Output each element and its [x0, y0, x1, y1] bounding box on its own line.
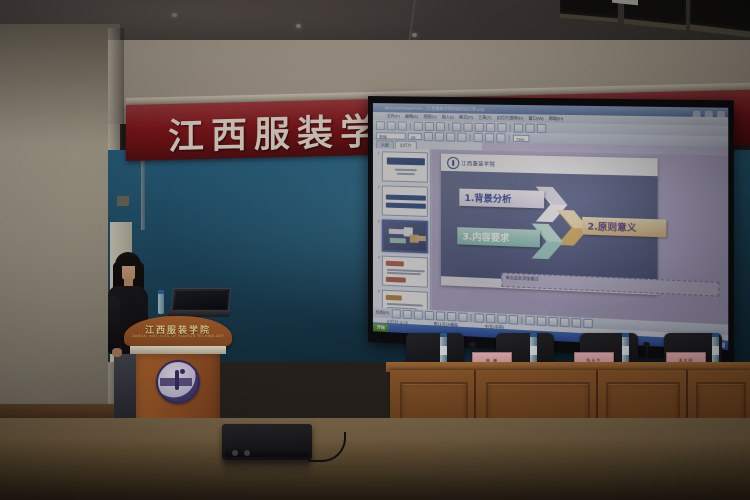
toolbar-separator — [448, 123, 449, 130]
oval-icon[interactable] — [447, 311, 456, 321]
draw-menu-label[interactable]: 绘图(R) — [376, 309, 389, 316]
slide-editing-area[interactable]: 江西服装学院 1.背景分析 — [432, 149, 728, 324]
zoom-select[interactable]: 73% — [513, 134, 530, 142]
thumb-line — [387, 272, 421, 275]
ceiling-downlight — [296, 24, 301, 28]
laptop-lid — [171, 288, 232, 312]
arrow-icon[interactable] — [424, 310, 433, 320]
slide-thumbnail-4[interactable] — [382, 256, 428, 288]
toolbar-separator — [521, 316, 522, 323]
thumb-heading — [386, 295, 402, 301]
menu-item-edit[interactable]: 编辑(E) — [405, 114, 418, 120]
align-center-icon[interactable] — [485, 133, 494, 142]
thumb-heading — [386, 261, 404, 267]
podium-water-bottle — [158, 293, 164, 314]
print-icon[interactable] — [414, 121, 423, 130]
menu-item-help[interactable]: 帮助(H) — [549, 116, 563, 122]
line-icon[interactable] — [413, 310, 422, 320]
conference-hall-photo: 江西服装学 Microsoft PowerPoint - [江西服装学院内部培训… — [0, 0, 750, 500]
rectangle-icon[interactable] — [436, 311, 445, 321]
slide-thumbnail-3[interactable] — [381, 219, 427, 253]
slide-thumbnail-panel[interactable]: 1 2 3 — [373, 148, 431, 310]
thumb-title-bar — [387, 157, 425, 165]
select-arrow-icon[interactable] — [391, 309, 400, 318]
thumb-line — [397, 173, 415, 175]
amplifier-knob — [244, 450, 250, 456]
underline-icon[interactable] — [446, 132, 455, 141]
thumb-line — [387, 303, 423, 306]
font-name-select[interactable]: 宋体 — [376, 132, 406, 140]
podium-top: 江西服装学院 JIANGXI INSTITUTE OF FASHION TECH… — [124, 316, 232, 346]
slide-thumbnail-1[interactable] — [382, 151, 428, 182]
table-microphone — [469, 342, 476, 347]
autoshapes-icon[interactable] — [402, 309, 411, 319]
new-icon[interactable] — [376, 121, 385, 130]
align-right-icon[interactable] — [496, 133, 505, 142]
left-wall-shading — [0, 24, 120, 424]
menu-item-format[interactable]: 格式(O) — [459, 114, 473, 120]
thumbnail-row[interactable]: 3 — [375, 219, 428, 253]
chevron-label-3: 3.内容要求 — [457, 227, 540, 247]
bottle-cap — [622, 333, 629, 337]
thumbnail-row[interactable]: 4 — [375, 255, 428, 287]
bold-icon[interactable] — [424, 132, 433, 141]
podium-trim-band — [130, 346, 226, 354]
amplifier-reflection — [224, 459, 310, 477]
clipart-icon[interactable] — [497, 314, 506, 324]
bottle-cap — [530, 333, 537, 337]
thumb-chevron — [416, 236, 427, 241]
thumbnail-number: 3 — [375, 219, 380, 224]
slide-logo: 江西服装学院 — [447, 157, 495, 170]
fill-color-icon[interactable] — [525, 315, 534, 325]
amplifier-knob — [232, 450, 238, 456]
preview-icon[interactable] — [425, 121, 434, 130]
crest-figure — [175, 370, 179, 390]
insert-chart-icon[interactable] — [525, 123, 534, 132]
menu-item-window[interactable]: 窗口(W) — [528, 115, 543, 121]
ceiling-downlight — [412, 33, 417, 37]
presenter-arm — [108, 296, 120, 352]
thumb-line — [395, 169, 417, 171]
menu-item-slideshow[interactable]: 幻灯片放映(D) — [497, 115, 524, 122]
chevron-label-1: 1.背景分析 — [459, 189, 544, 209]
presenter-hand — [112, 348, 122, 357]
insert-table-icon[interactable] — [514, 123, 523, 132]
table-microphone — [643, 342, 650, 347]
school-crest-icon — [447, 157, 459, 169]
undo-icon[interactable] — [486, 122, 495, 131]
thumb-chevron — [389, 238, 405, 244]
start-button[interactable]: 开始 — [373, 323, 389, 332]
copy-icon[interactable] — [463, 122, 472, 131]
bottle-cap — [712, 333, 719, 337]
cut-icon[interactable] — [452, 122, 461, 131]
diagram-icon[interactable] — [486, 313, 495, 323]
podium-bottle-cap — [158, 290, 164, 294]
chevron-label-2: 2.原则意义 — [582, 217, 666, 238]
slide-logo-text: 江西服装学院 — [461, 160, 495, 168]
thumbnail-number: 5 — [375, 289, 380, 294]
ceiling-downlight — [172, 13, 177, 17]
thumbnail-row[interactable]: 1 — [375, 151, 428, 182]
textbox-icon[interactable] — [458, 312, 467, 322]
slide-thumbnail-2[interactable] — [382, 185, 428, 217]
laptop-screen — [174, 291, 228, 309]
shadow-style-icon[interactable] — [571, 317, 581, 327]
thumb-bullet-bar — [386, 195, 426, 201]
shadow-icon[interactable] — [457, 132, 466, 141]
italic-icon[interactable] — [435, 132, 444, 141]
bottle-label — [712, 346, 719, 355]
school-crest-icon — [156, 360, 200, 404]
banner-text: 江西服装学 — [168, 103, 383, 160]
projection-screen: Microsoft PowerPoint - [江西服装学院内部培训方案.ppt… — [373, 103, 728, 350]
thumb-diagram — [383, 222, 425, 252]
notes-pane[interactable]: 单击此处添加备注 — [501, 273, 719, 297]
align-left-icon[interactable] — [474, 132, 483, 141]
bottle-label — [622, 346, 629, 355]
save-icon[interactable] — [398, 121, 407, 130]
3d-style-icon[interactable] — [583, 318, 593, 328]
thumbnail-number: 1 — [375, 151, 380, 156]
toolbar-separator — [410, 122, 411, 129]
menu-item-view[interactable]: 视图(V) — [423, 114, 436, 120]
menu-item-insert[interactable]: 插入(I) — [442, 114, 454, 120]
paste-icon[interactable] — [475, 122, 484, 131]
bottle-label — [530, 346, 537, 355]
thumb-bullet-bar — [386, 203, 426, 209]
crest-figure-head — [180, 369, 185, 374]
line-color-icon[interactable] — [536, 316, 545, 326]
wordart-icon[interactable] — [474, 313, 483, 323]
toolbar-separator — [510, 124, 511, 131]
redo-icon[interactable] — [497, 123, 506, 132]
toolbar-separator — [470, 133, 471, 140]
thumbnail-number: 2 — [375, 185, 380, 190]
open-icon[interactable] — [387, 121, 396, 130]
projection-screen-frame: Microsoft PowerPoint - [江西服装学院内部培训方案.ppt… — [368, 96, 734, 362]
bottle-label — [440, 346, 447, 355]
font-size-select[interactable]: 28 — [408, 132, 422, 139]
thumbnail-row[interactable]: 2 — [375, 185, 428, 217]
spellcheck-icon[interactable] — [436, 122, 445, 131]
thumb-heading — [386, 277, 406, 283]
thumbnail-number: 4 — [375, 255, 380, 260]
bottle-cap — [440, 333, 447, 337]
wall-plate — [117, 196, 129, 206]
hyperlink-icon[interactable] — [537, 123, 546, 132]
picture-icon[interactable] — [508, 314, 517, 324]
thumb-chevron — [388, 229, 404, 235]
floor-amplifier — [222, 424, 312, 460]
font-color-icon[interactable] — [548, 316, 557, 326]
toolbar-separator — [470, 314, 471, 321]
podium-name-english: JIANGXI INSTITUTE OF FASHION TECHNOLOGY — [124, 334, 232, 338]
menu-item-file[interactable]: 文件(F) — [387, 113, 400, 119]
menu-item-tools[interactable]: 工具(T) — [478, 115, 491, 121]
floor-gloss — [0, 418, 750, 500]
line-style-icon[interactable] — [559, 317, 569, 327]
wall-pipe — [141, 152, 145, 230]
toolbar-separator — [509, 134, 510, 141]
